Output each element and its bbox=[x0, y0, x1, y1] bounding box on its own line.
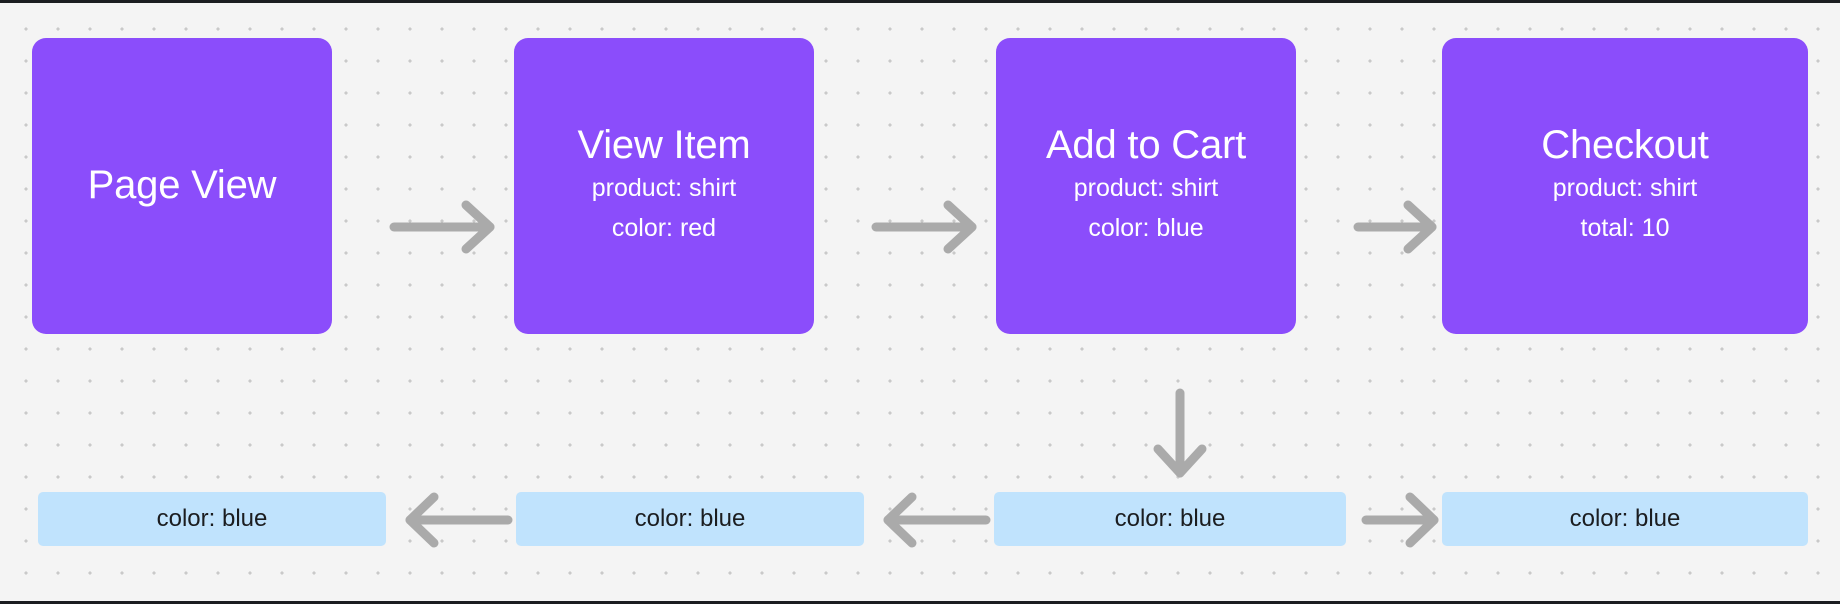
arrow-left-icon bbox=[878, 503, 990, 537]
event-node-title: Checkout bbox=[1541, 124, 1708, 166]
event-node-properties: product: shirt total: 10 bbox=[1553, 168, 1698, 249]
event-node-property: product: shirt bbox=[1074, 168, 1219, 209]
arrow-right-icon bbox=[1364, 503, 1444, 537]
arrow-down-icon bbox=[1152, 389, 1208, 485]
arrow-right-icon bbox=[872, 199, 984, 255]
event-node-property: product: shirt bbox=[592, 168, 737, 209]
flow-diagram-canvas[interactable]: Page View View Item product: shirt color… bbox=[0, 0, 1840, 604]
arrow-right-icon bbox=[1354, 199, 1444, 255]
property-node[interactable]: color: blue bbox=[516, 492, 864, 546]
property-node-label: color: blue bbox=[157, 507, 268, 531]
property-node[interactable]: color: blue bbox=[38, 492, 386, 546]
event-node-property: total: 10 bbox=[1581, 208, 1670, 249]
event-node-property: color: blue bbox=[1088, 208, 1203, 249]
event-node-title: Add to Cart bbox=[1046, 124, 1246, 166]
event-node-properties: product: shirt color: red bbox=[592, 168, 737, 249]
event-node-property: product: shirt bbox=[1553, 168, 1698, 209]
property-node-label: color: blue bbox=[1570, 507, 1681, 531]
event-node-add-to-cart[interactable]: Add to Cart product: shirt color: blue bbox=[996, 38, 1296, 334]
event-node-title: Page View bbox=[88, 164, 277, 206]
property-node-label: color: blue bbox=[1115, 507, 1226, 531]
event-node-properties: product: shirt color: blue bbox=[1074, 168, 1219, 249]
event-node-title: View Item bbox=[577, 124, 750, 166]
property-node-label: color: blue bbox=[635, 507, 746, 531]
event-node-page-view[interactable]: Page View bbox=[32, 38, 332, 334]
event-node-view-item[interactable]: View Item product: shirt color: red bbox=[514, 38, 814, 334]
arrow-left-icon bbox=[400, 503, 512, 537]
arrow-right-icon bbox=[390, 199, 502, 255]
event-node-checkout[interactable]: Checkout product: shirt total: 10 bbox=[1442, 38, 1808, 334]
property-node[interactable]: color: blue bbox=[994, 492, 1346, 546]
property-node[interactable]: color: blue bbox=[1442, 492, 1808, 546]
event-node-property: color: red bbox=[612, 208, 716, 249]
